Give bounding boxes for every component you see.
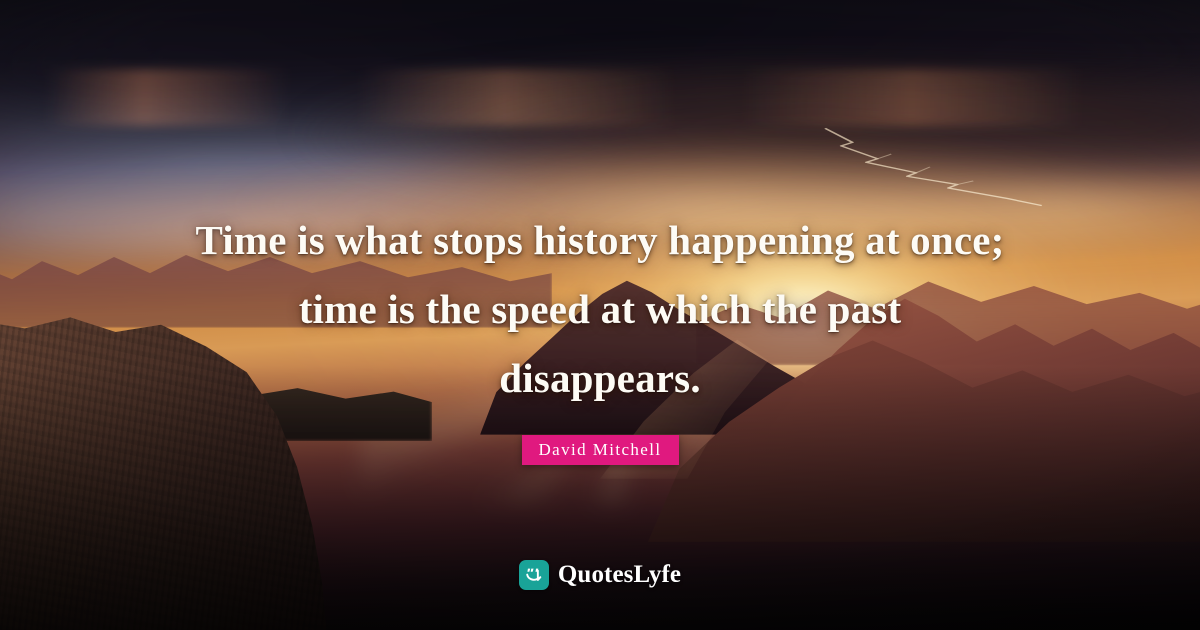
quoteslyfe-wordmark: QuotesLyfe [558, 561, 681, 589]
quote-line-2: time is the speed at which the past [95, 275, 1105, 344]
quote-smiley-icon [519, 560, 549, 590]
quote-line-1: Time is what stops history happening at … [95, 206, 1105, 275]
quote-smiley-glyph [523, 564, 545, 586]
quote-text: Time is what stops history happening at … [95, 206, 1105, 465]
author-badge[interactable]: David Mitchell [522, 435, 679, 465]
card-content: Time is what stops history happening at … [0, 0, 1200, 630]
quoteslyfe-logo[interactable]: QuotesLyfe [519, 560, 681, 590]
quote-line-3: disappears. [95, 344, 1105, 413]
quote-card: Time is what stops history happening at … [0, 0, 1200, 630]
